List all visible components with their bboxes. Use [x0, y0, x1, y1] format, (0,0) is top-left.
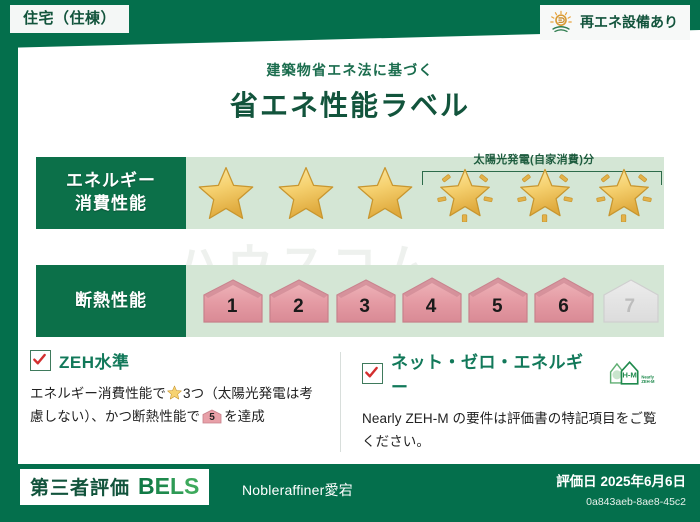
star-icon: [197, 164, 255, 222]
insulation-performance-label: 断熱性能: [36, 265, 186, 337]
insulation-label-text: 断熱性能: [75, 290, 147, 313]
insulation-level-3: 3: [333, 276, 397, 326]
net-zero-energy-block: ネット・ゼロ・エネルギー H-M Nearly ZEH-M Nearly ZEH…: [338, 348, 670, 456]
third-party-eval-label: 第三者評価: [30, 473, 130, 500]
zeh-checkbox[interactable]: [30, 350, 51, 371]
check-icon: [364, 365, 379, 380]
zeh-desc-part1: エネルギー消費性能で: [30, 386, 166, 401]
net-zero-checkbox[interactable]: [362, 363, 383, 384]
star-icon: [356, 164, 414, 222]
star-icon: [277, 164, 335, 222]
insulation-level-5-number: 5: [492, 296, 503, 318]
insulation-level-6-number: 6: [558, 296, 569, 318]
solar-sun-icon-svg: [548, 9, 574, 35]
check-icon: [32, 352, 47, 367]
zeh-desc-part4: を達成: [224, 409, 265, 424]
star-sparkle-icon: [436, 164, 494, 222]
insulation-level-2-number: 2: [293, 296, 304, 318]
bels-letter-l: L: [170, 473, 184, 499]
inline-star-icon: [167, 385, 182, 400]
star-1: [186, 157, 266, 229]
energy-performance-row: エネルギー 消費性能 太陽光発電(自家消費)分: [36, 157, 664, 229]
star-6-pv: [584, 157, 664, 229]
renewable-badge-label: 再エネ設備あり: [580, 14, 678, 30]
insulation-level-scale: 1 2 3: [186, 265, 664, 337]
svg-text:H-M: H-M: [623, 371, 638, 380]
bels-letter-e: E: [155, 473, 170, 499]
insulation-level-3-number: 3: [359, 296, 370, 318]
zeh-standard-block: ZEH水準 エネルギー消費性能で3つ（太陽光発電は考慮しない）、かつ断熱性能で5…: [30, 348, 338, 456]
insulation-level-4-number: 4: [426, 296, 437, 318]
zeh-title: ZEH水準: [59, 348, 130, 373]
insulation-level-6: 6: [531, 276, 595, 326]
star-4-pv: [425, 157, 505, 229]
solar-sun-icon: [548, 9, 574, 35]
bels-letter-s: S: [184, 473, 199, 499]
zeh-desc-part2: 3つ（太陽光発電: [183, 386, 286, 401]
inline-house-value: 5: [202, 409, 222, 424]
zeh-description: エネルギー消費性能で3つ（太陽光発電は考慮しない）、かつ断熱性能で5を達成: [30, 382, 326, 428]
zeh-m-logo-icon: H-M Nearly ZEH-M: [607, 358, 658, 388]
energy-star-rating: [186, 157, 664, 229]
left-green-bar: [0, 0, 18, 522]
bels-letter-b: B: [138, 473, 155, 499]
insulation-performance-row: 断熱性能: [36, 265, 664, 337]
evaluation-id: 0a843aeb-8ae8-45c2: [586, 496, 686, 508]
renewable-equipment-badge: 再エネ設備あり: [540, 5, 690, 40]
bels-footer-badge: 第三者評価 BELS: [20, 469, 209, 505]
insulation-level-7-inactive: 7: [598, 276, 662, 326]
energy-performance-label: エネルギー 消費性能: [36, 157, 186, 229]
insulation-level-2: 2: [266, 276, 330, 326]
zeh-heading: ZEH水準: [30, 348, 326, 373]
net-zero-heading: ネット・ゼロ・エネルギー H-M Nearly ZEH-M: [362, 348, 658, 398]
inline-house-badge: 5: [202, 409, 222, 424]
star-sparkle-icon: [595, 164, 653, 222]
star-3: [345, 157, 425, 229]
bels-logo: BELS: [138, 473, 199, 500]
star-5-pv: [505, 157, 585, 229]
insulation-level-1: 1: [200, 276, 264, 326]
bels-energy-label: 住宅（住棟） 再エネ設備あり 建築物省エネ法に: [0, 0, 700, 522]
label-title-block: 建築物省エネ法に基づく 省エネ性能ラベル: [18, 60, 682, 124]
svg-text:ZEH-M: ZEH-M: [642, 379, 656, 384]
net-zero-description: Nearly ZEH-M の要件は評価書の特記項目をご覧ください。: [362, 407, 658, 453]
insulation-level-5: 5: [465, 276, 529, 326]
insulation-level-1-number: 1: [227, 296, 238, 318]
title-subtitle: 建築物省エネ法に基づく: [18, 60, 682, 80]
energy-stars-panel: 太陽光発電(自家消費)分: [186, 157, 664, 229]
energy-label-line1: エネルギー: [66, 170, 156, 193]
page-title: 省エネ性能ラベル: [18, 84, 682, 124]
insulation-level-4: 4: [399, 276, 463, 326]
property-name: Nobleraffiner愛宕: [242, 480, 353, 500]
evaluation-date: 評価日 2025年6月6日: [556, 470, 686, 490]
star-sparkle-icon: [516, 164, 574, 222]
building-type-badge: 住宅（住棟）: [10, 5, 129, 33]
info-section: ZEH水準 エネルギー消費性能で3つ（太陽光発電は考慮しない）、かつ断熱性能で5…: [30, 348, 670, 456]
star-2: [266, 157, 346, 229]
insulation-level-7-number: 7: [625, 296, 636, 318]
insulation-levels-panel: 1 2 3: [186, 265, 664, 337]
net-zero-title: ネット・ゼロ・エネルギー: [391, 348, 595, 398]
energy-label-line2: 消費性能: [75, 193, 147, 216]
